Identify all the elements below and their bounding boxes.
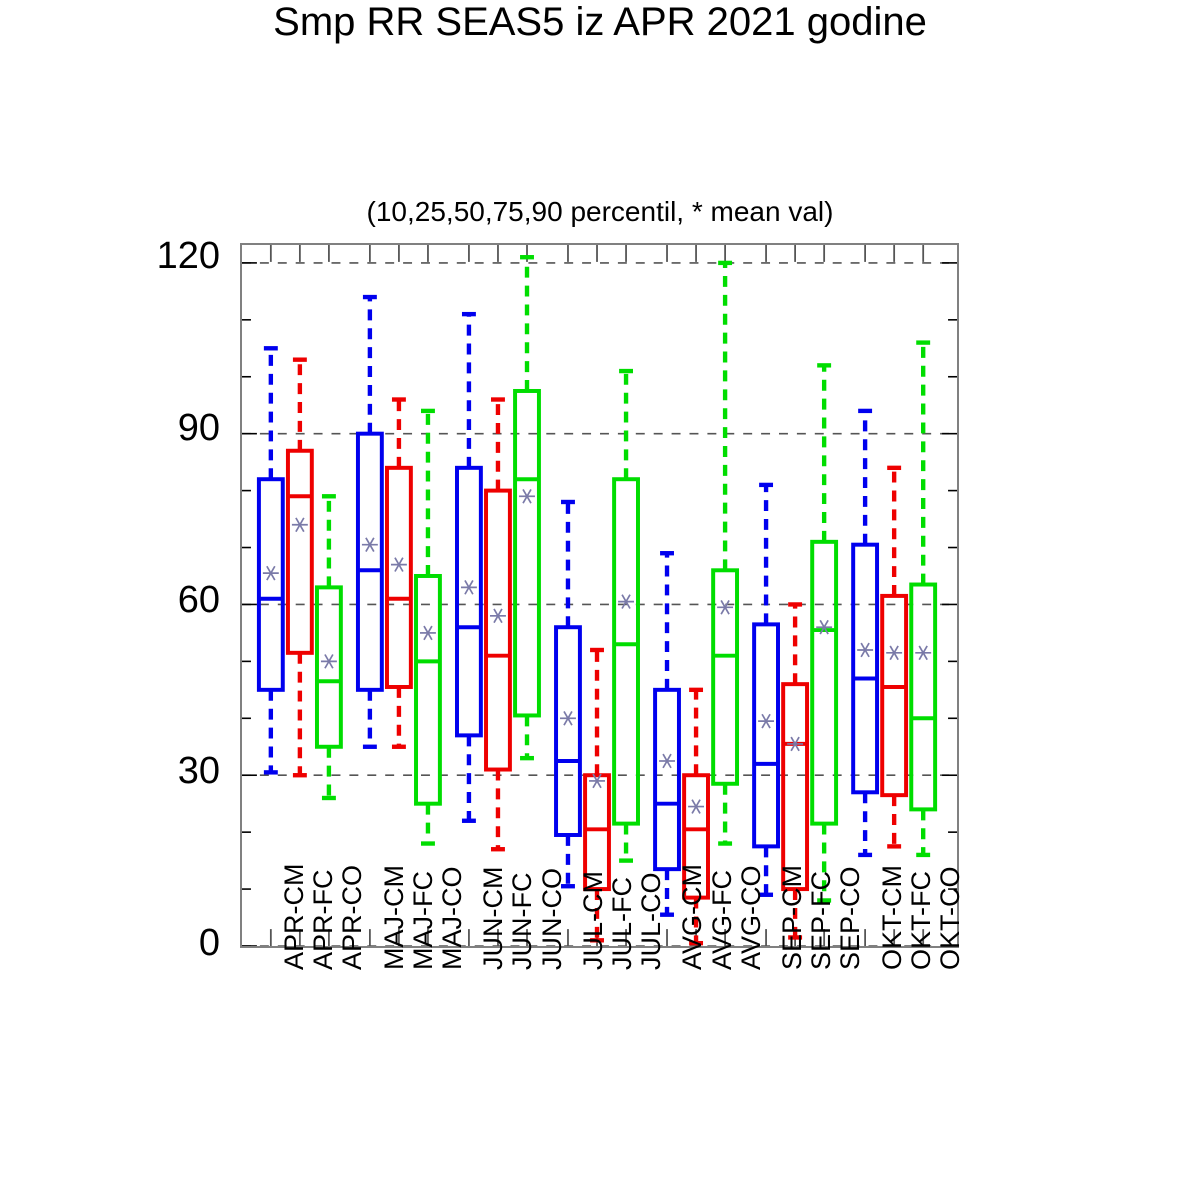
x-tick-label-avg-cm: AVG-CM [677, 864, 708, 970]
x-tick-label-jul-cm: JUL-CM [578, 871, 609, 970]
x-tick-label-apr-fc: APR-FC [308, 870, 339, 971]
x-tick-label-apr-co: APR-CO [337, 865, 368, 970]
x-tick-label-okt-co: OKT-CO [935, 866, 966, 970]
x-tick-label-avg-co: AVG-CO [736, 865, 767, 970]
x-tick-label-jul-fc: JUL-FC [607, 877, 638, 970]
x-tick-label-maj-co: MAJ-CO [437, 867, 468, 971]
x-tick-label-jun-fc: JUN-FC [507, 873, 538, 970]
x-tick-label-sep-fc: SEP-FC [806, 871, 837, 970]
x-tick-label-sep-cm: SEP-CM [777, 865, 808, 970]
x-tick-label-jun-co: JUN-CO [537, 868, 568, 970]
x-tick-label-apr-cm: APR-CM [279, 864, 310, 971]
x-tick-label-sep-co: SEP-CO [835, 866, 866, 970]
x-tick-label-maj-fc: MAJ-FC [408, 871, 439, 970]
x-tick-label-avg-fc: AVG-FC [707, 870, 738, 970]
x-tick-label-jul-co: JUL-CO [636, 872, 667, 970]
x-tick-label-jun-cm: JUN-CM [478, 867, 509, 970]
x-tick-label-okt-cm: OKT-CM [877, 865, 908, 970]
x-tick-label-maj-cm: MAJ-CM [379, 865, 410, 970]
x-axis-tick-labels: APR-CMAPR-FCAPR-COMAJ-CMMAJ-FCMAJ-COJUN-… [0, 0, 1200, 1200]
x-tick-label-okt-fc: OKT-FC [906, 871, 937, 970]
